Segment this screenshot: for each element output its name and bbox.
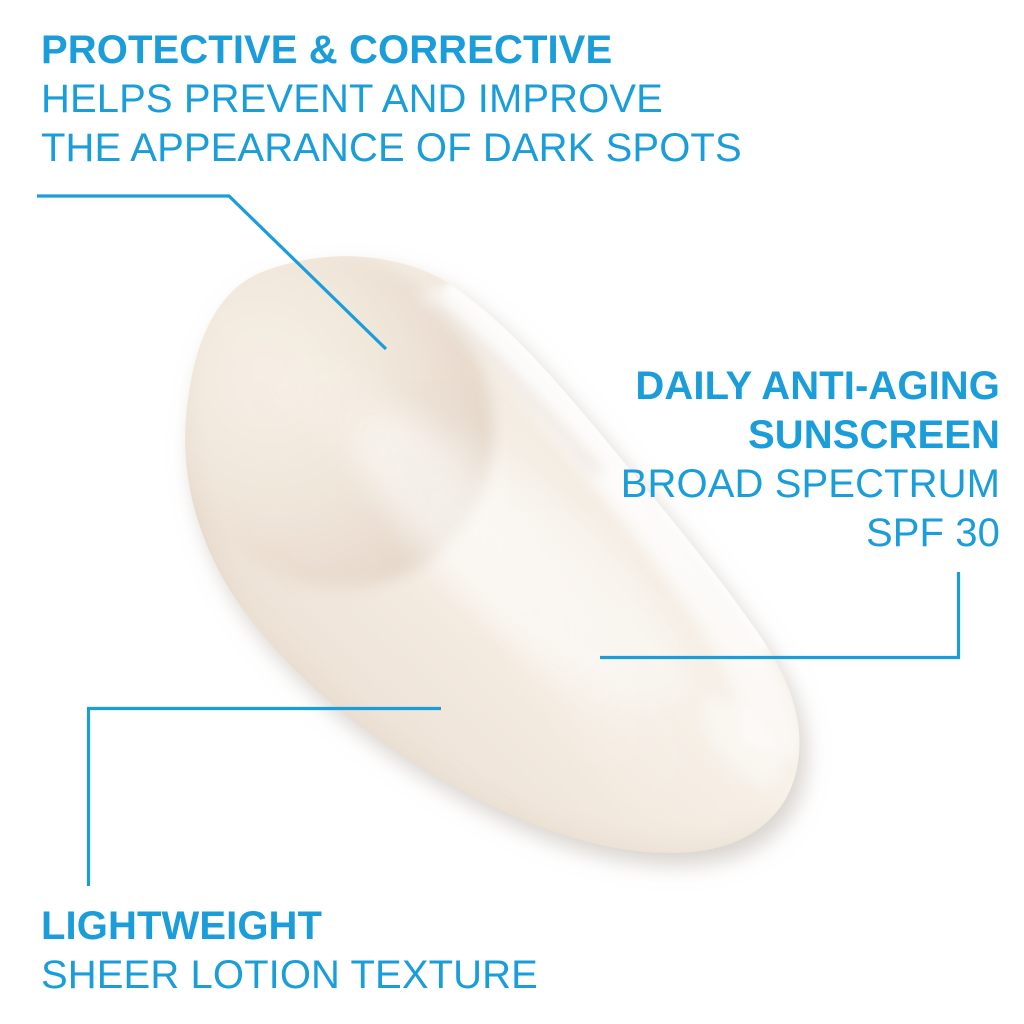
callout-protective-subline-2: THE APPEARANCE OF DARK SPOTS (41, 124, 742, 173)
callout-lightweight-subline-1: SHEER LOTION TEXTURE (41, 951, 538, 1000)
callout-daily-subline-1: BROAD SPECTRUM (621, 460, 1000, 509)
callout-lightweight-heading: LIGHTWEIGHT (41, 902, 538, 951)
callout-daily-heading-2: SUNSCREEN (621, 411, 1000, 460)
callout-daily-heading-1: DAILY ANTI-AGING (621, 362, 1000, 411)
callout-daily-spf-value: SPF 30 (621, 509, 1000, 558)
callout-protective-heading: PROTECTIVE & CORRECTIVE (41, 26, 742, 75)
infographic-canvas: PROTECTIVE & CORRECTIVE HELPS PREVENT AN… (0, 0, 1024, 1024)
callout-daily-anti-aging-sunscreen: DAILY ANTI-AGING SUNSCREEN BROAD SPECTRU… (621, 362, 1000, 558)
callout-lightweight: LIGHTWEIGHT SHEER LOTION TEXTURE (41, 902, 538, 1000)
callout-protective-subline-1: HELPS PREVENT AND IMPROVE (41, 75, 742, 124)
callout-protective-corrective: PROTECTIVE & CORRECTIVE HELPS PREVENT AN… (41, 26, 742, 173)
